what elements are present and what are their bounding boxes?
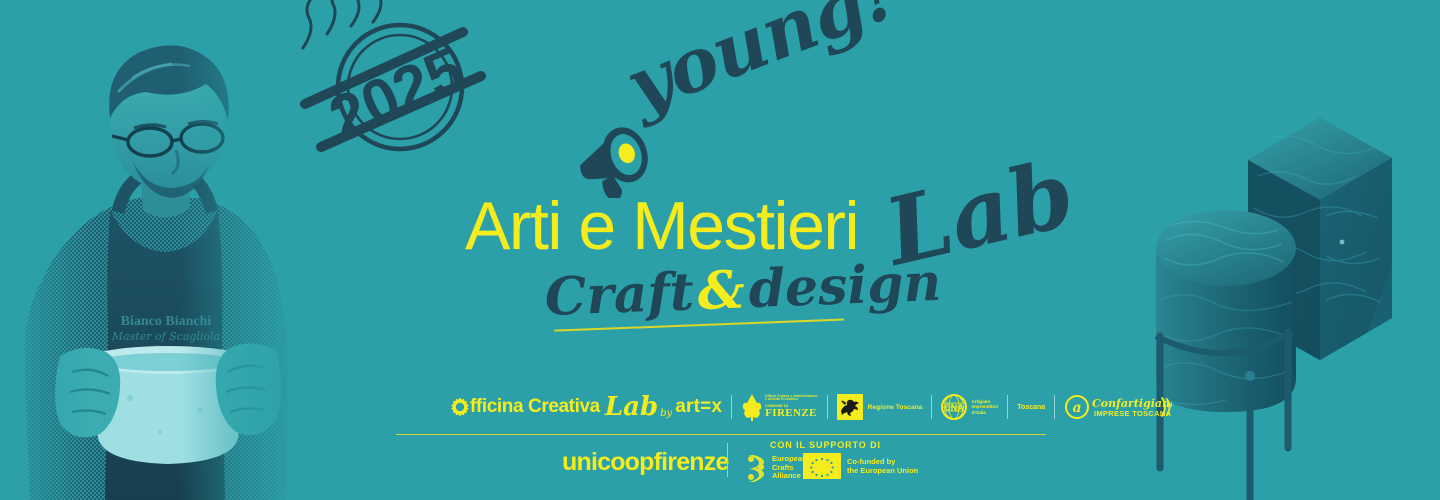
subtitle: Craft&design: [544, 257, 942, 324]
support-label: CON IL SUPPORTO DI: [770, 440, 881, 450]
logo-european-crafts-alliance[interactable]: European Crafts Alliance: [745, 453, 807, 483]
eca-line3: Alliance: [772, 472, 807, 481]
cna-mark: CNA: [945, 403, 965, 413]
officina-by-label: by: [660, 408, 672, 422]
pegaso-icon: [837, 394, 863, 420]
logo-comune-di-firenze[interactable]: Ufficio Cultura e manifestazioni e Attiv…: [741, 392, 817, 422]
logo-european-union[interactable]: Co-funded by the European Union: [803, 453, 918, 479]
artisan-photo: Bianco Bianchi Master of Scagliola Firen…: [0, 0, 300, 500]
cna-line2: Imprenditori: [971, 404, 998, 409]
logo-divider: [731, 395, 732, 419]
megaphone-icon: [570, 118, 675, 198]
subtitle-ampersand: &: [693, 259, 750, 322]
logo-officina-creativa-lab[interactable]: fficina Creativa Lab by art=x: [450, 392, 722, 422]
page-title: Arti e Mestieri: [465, 192, 858, 260]
regione-toscana-label: Regione Toscana: [868, 404, 923, 411]
logo-cna[interactable]: CNA Artigiani Imprenditori d'Italia Tosc…: [941, 394, 1045, 420]
subtitle-craft: Craft: [544, 261, 695, 328]
partner-logo-row-primary: fficina Creativa Lab by art=x Ufficio Cu…: [450, 390, 1000, 424]
artex-wordmark: art=x: [675, 396, 722, 418]
cna-globe-icon: CNA: [941, 394, 967, 420]
logo-divider: [827, 395, 828, 419]
giglio-fiorentino-icon: [741, 392, 763, 422]
logo-divider: [931, 395, 932, 419]
event-banner: Bianco Bianchi Master of Scagliola Firen…: [0, 0, 1440, 500]
firenze-line4: FIRENZE: [765, 408, 817, 419]
officina-lab-label: Lab: [605, 392, 658, 422]
firenze-line2: e Attività Produttive: [765, 398, 817, 401]
gear-icon: [450, 397, 470, 417]
logo-divider: [1007, 395, 1008, 419]
confartigianato-mark: a Confartigianato IMPRESE TOSCANA: [1064, 394, 1172, 420]
eu-flag-icon: [803, 453, 841, 479]
logo-section-divider: [396, 434, 1046, 435]
year-stamp-2025: 2025: [285, 0, 515, 177]
stone-furniture-photo: [1130, 0, 1440, 500]
svg-text:a: a: [1073, 400, 1082, 416]
eu-line2: the European Union: [847, 466, 918, 475]
cna-line3: d'Italia: [971, 410, 998, 415]
cna-region-label: Toscana: [1017, 404, 1045, 411]
eu-line1: Co-funded by: [847, 457, 918, 466]
support-divider: [727, 443, 728, 477]
officina-creativa-label: fficina Creativa: [470, 396, 600, 418]
subtitle-design: design: [747, 252, 942, 320]
headline-young: young!: [615, 0, 906, 130]
eca-helix-icon: [745, 453, 769, 483]
logo-divider: [1054, 395, 1055, 419]
svg-text:IMPRESE TOSCANA: IMPRESE TOSCANA: [1094, 409, 1172, 418]
year-stamp-label: 2025: [320, 35, 474, 154]
logo-confartigianato[interactable]: a Confartigianato IMPRESE TOSCANA: [1064, 394, 1172, 420]
logo-unicoopfirenze[interactable]: unicoopfirenze: [562, 450, 729, 475]
logo-regione-toscana[interactable]: Regione Toscana: [837, 394, 923, 420]
